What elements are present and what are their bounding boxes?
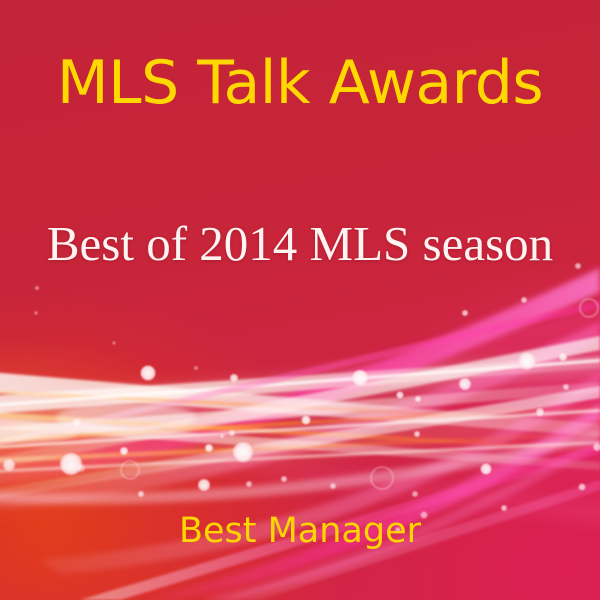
bokeh-dot	[77, 464, 85, 472]
bokeh-dot	[60, 453, 82, 475]
bokeh-dot	[519, 353, 536, 370]
bokeh-dot	[330, 483, 336, 489]
bokeh-dot	[415, 396, 421, 402]
subtitle: Best of 2014 MLS season	[0, 215, 600, 272]
bokeh-dot	[230, 374, 238, 382]
bokeh-dot	[459, 378, 471, 390]
award-poster: MLS Talk Awards Best of 2014 MLS season …	[0, 0, 600, 600]
bokeh-dot	[138, 491, 144, 497]
bokeh-dot	[198, 479, 210, 491]
bokeh-dot	[281, 476, 287, 482]
bokeh-dot	[481, 464, 492, 475]
bokeh-dot	[194, 366, 198, 370]
bokeh-ring	[371, 467, 393, 489]
bokeh-dot	[229, 430, 235, 436]
bokeh-dot	[120, 447, 128, 455]
bokeh-dot	[462, 310, 468, 316]
bokeh-dot	[205, 444, 213, 452]
bokeh-dot	[233, 442, 253, 462]
bokeh-ring	[580, 299, 598, 317]
bokeh-dot	[521, 297, 527, 303]
bokeh-dot	[536, 408, 544, 416]
bokeh-dot	[220, 434, 224, 438]
award-category-label: Best Manager	[0, 511, 600, 551]
bokeh-dot	[593, 443, 600, 451]
bokeh-dot	[246, 481, 252, 487]
bokeh-dot	[579, 484, 586, 491]
bokeh-dot	[302, 416, 311, 425]
bokeh-dot	[559, 353, 567, 361]
bokeh-ring	[121, 461, 139, 479]
bokeh-dot	[141, 366, 156, 381]
bokeh-dot	[3, 459, 15, 471]
bokeh-dot	[112, 341, 116, 345]
bokeh-dot	[35, 286, 39, 290]
bokeh-dot	[352, 370, 368, 386]
page-title: MLS Talk Awards	[0, 48, 600, 118]
bokeh-dot	[34, 311, 38, 315]
bokeh-dot	[412, 491, 418, 497]
bokeh-dot	[72, 418, 82, 428]
bokeh-dot	[397, 392, 404, 399]
bokeh-dot	[563, 384, 569, 390]
bokeh-dot	[414, 431, 420, 437]
